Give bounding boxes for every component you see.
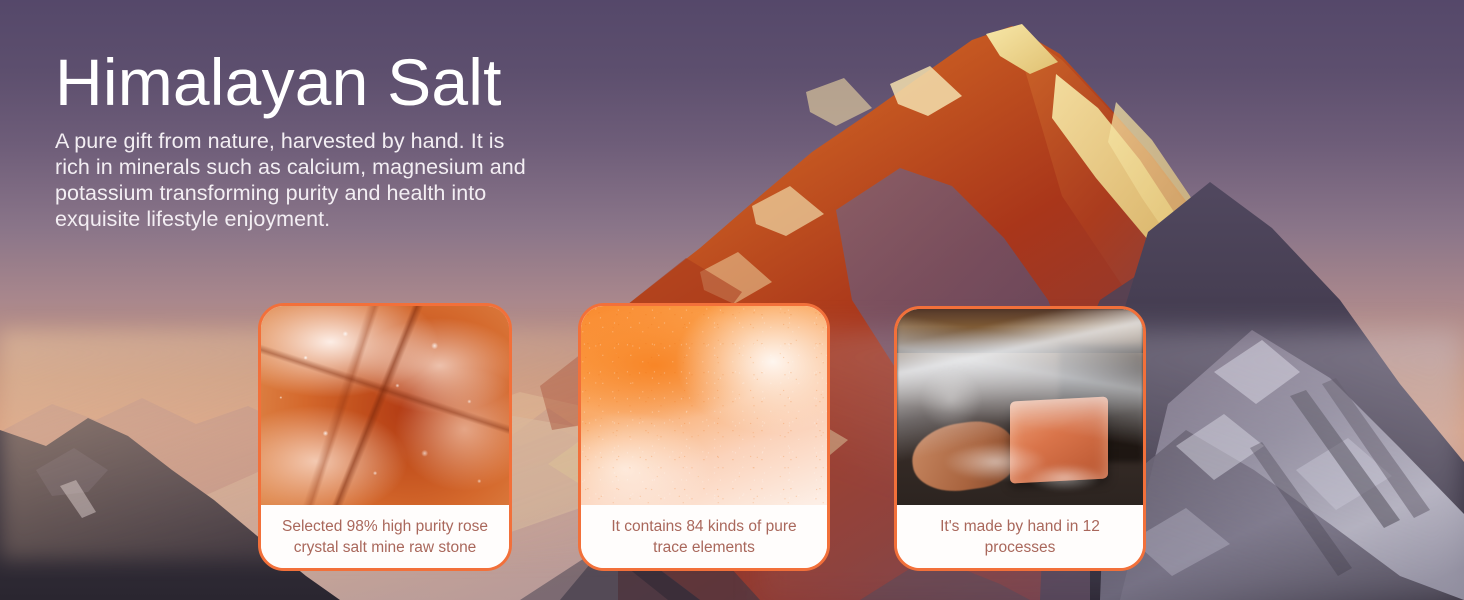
feature-card-rose-crystal[interactable]: Selected 98% high purity rose crystal sa… [258,303,512,571]
salt-slab-texture [581,306,827,505]
card-caption-text: It contains 84 kinds of pure trace eleme… [593,516,815,558]
feature-card-handmade[interactable]: It's made by hand in 12 processes [894,306,1146,571]
card-caption-area: It contains 84 kinds of pure trace eleme… [581,505,827,568]
feature-card-list: Selected 98% high purity rose crystal sa… [0,0,1464,600]
card-image-handmade-salt-block-washing [897,309,1143,505]
water-splash [897,309,1143,505]
card-image-orange-salt-slab [581,306,827,505]
card-caption-area: It's made by hand in 12 processes [897,505,1143,568]
rose-crystal-salt-texture [261,306,509,505]
salt-washing-texture [897,309,1143,505]
card-caption-text: It's made by hand in 12 processes [909,516,1131,558]
card-caption-text: Selected 98% high purity rose crystal sa… [273,516,497,558]
salt-grain-speckles [581,306,827,505]
feature-card-trace-elements[interactable]: It contains 84 kinds of pure trace eleme… [578,303,830,571]
salt-sparkle-highlights [261,306,509,505]
himalayan-salt-banner: Himalayan Salt A pure gift from nature, … [0,0,1464,600]
card-caption-area: Selected 98% high purity rose crystal sa… [261,505,509,568]
card-image-rose-crystal-salt-raw-stone [261,306,509,505]
